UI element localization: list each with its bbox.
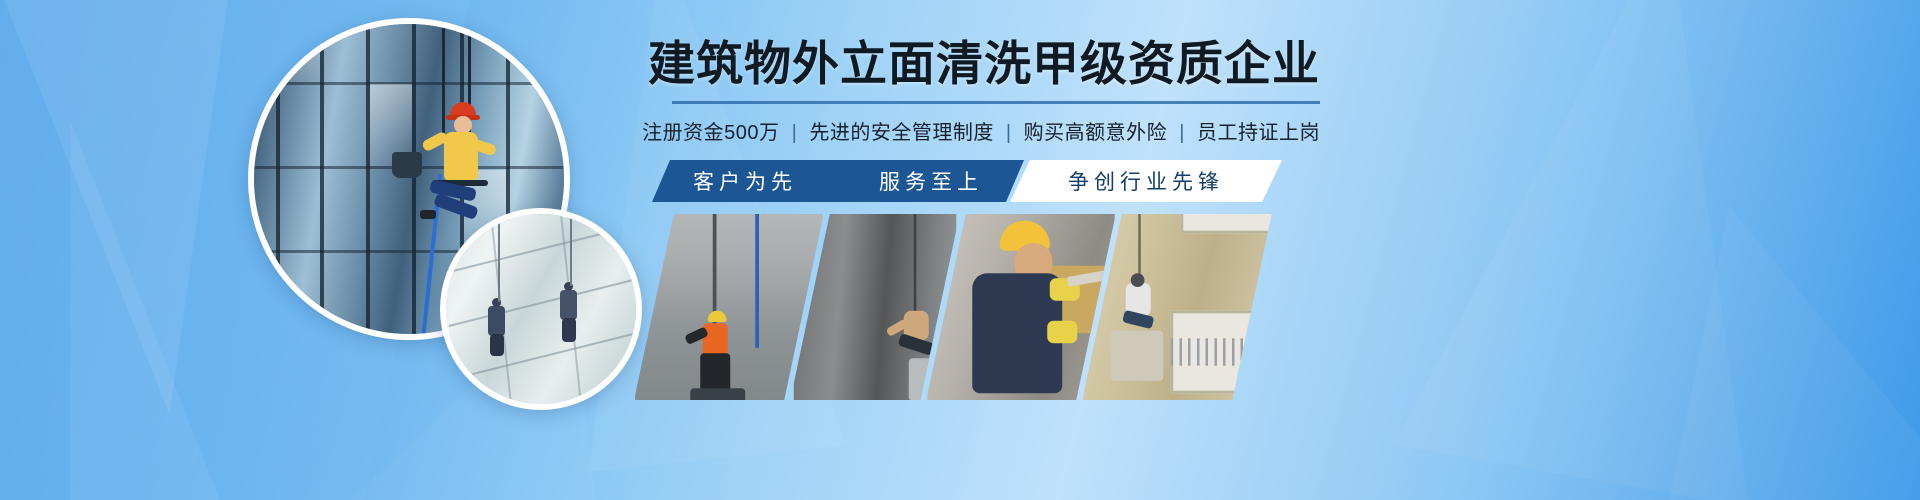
orange-safety-vest — [703, 323, 728, 356]
banner-subtitle: 注册资金500万 | 先进的安全管理制度 | 购买高额意外险 | 员工持证上岗 — [640, 116, 1320, 145]
wall-section — [1111, 331, 1164, 381]
safety-rope — [570, 214, 572, 286]
photo-light-wall — [446, 214, 636, 404]
headline-underline — [672, 101, 1320, 104]
window-mullion — [412, 24, 416, 334]
worker-boot — [420, 210, 436, 219]
photo-balcony-rope-worker — [1083, 214, 1271, 400]
subtitle-separator: | — [786, 122, 804, 144]
subtitle-separator: | — [1000, 122, 1018, 144]
circle-photo-light-wall — [440, 208, 642, 410]
safety-rope — [442, 24, 445, 142]
promo-banner: 建筑物外立面清洗甲级资质企业 注册资金500万 | 先进的安全管理制度 | 购买… — [0, 0, 1920, 500]
banner-text-block: 建筑物外立面清洗甲级资质企业 注册资金500万 | 先进的安全管理制度 | 购买… — [640, 40, 1320, 145]
slogan-bar-light-segment: 争创行业先锋 — [1010, 160, 1282, 202]
slogan-bar-dark-segment: 客户为先 服务至上 — [652, 160, 1024, 202]
balcony — [1181, 214, 1272, 233]
banner-headline: 建筑物外立面清洗甲级资质企业 — [640, 40, 1320, 87]
glass-reflection — [280, 24, 320, 82]
light-exterior-wall — [446, 214, 636, 404]
slogan-bar: 客户为先 服务至上 争创行业先锋 — [652, 160, 1282, 202]
work-glove — [1047, 321, 1077, 344]
slogan-service-supreme: 服务至上 — [879, 166, 983, 196]
strip-photo-4 — [1082, 214, 1272, 400]
safety-rope — [498, 214, 500, 302]
window-mullion — [320, 24, 324, 334]
slogan-customer-first: 客户为先 — [693, 166, 797, 196]
background-triangle-2 — [70, 120, 220, 500]
photo-orange-vest-worker — [635, 214, 823, 400]
worker-torso — [560, 290, 577, 320]
photo-strip — [654, 214, 1284, 400]
cleaning-bucket — [392, 152, 422, 178]
subtitle-part-4: 员工持证上岗 — [1197, 122, 1320, 144]
subtitle-separator: | — [1173, 122, 1191, 144]
worker-legs — [490, 334, 504, 356]
work-platform — [690, 388, 745, 400]
yellow-helmet-icon — [708, 311, 727, 322]
worker-head — [1131, 273, 1145, 287]
slogan-industry-pioneer: 争创行业先锋 — [1068, 166, 1224, 196]
subtitle-part-3: 购买高额意外险 — [1024, 122, 1168, 144]
subtitle-part-2: 先进的安全管理制度 — [809, 122, 994, 144]
worker-legs — [562, 318, 576, 342]
worker-torso — [444, 132, 478, 180]
worker-torso — [488, 306, 505, 336]
balcony-railing — [1171, 338, 1272, 366]
photo-plastering-worker — [927, 214, 1115, 400]
window-mullion — [366, 24, 370, 334]
safety-rope — [755, 214, 759, 348]
subtitle-part-1: 注册资金500万 — [642, 122, 779, 144]
